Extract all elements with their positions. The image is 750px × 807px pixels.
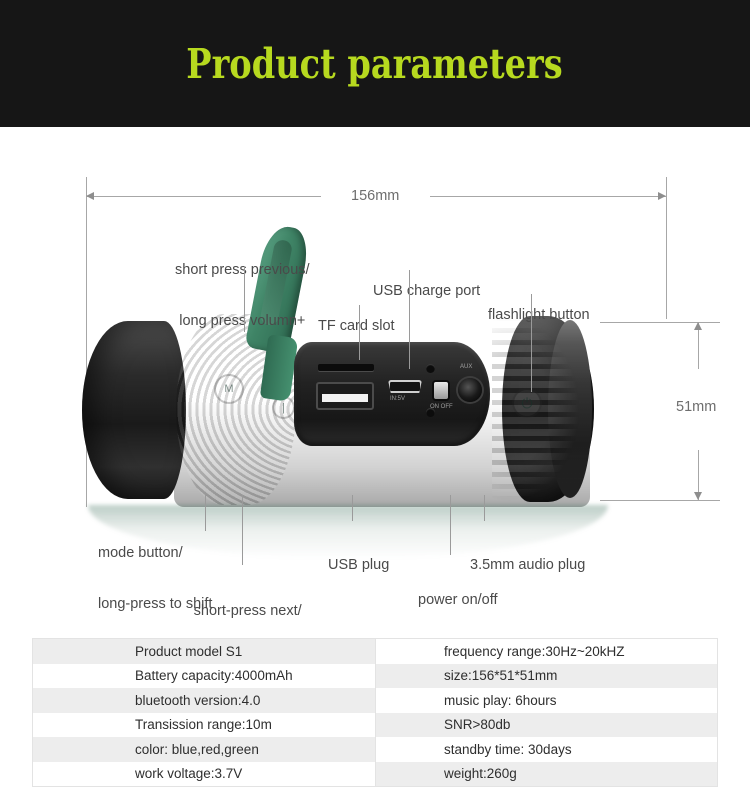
arrow-up-icon: [694, 322, 702, 330]
audio-jack-3-5mm[interactable]: [458, 378, 482, 402]
callout-power-switch-line1: power on/off: [418, 592, 498, 609]
callout-flashlight-button: flashlight button: [488, 273, 590, 358]
callout-usb-charge-port: USB charge port: [373, 249, 480, 334]
leader-volume-up: [244, 266, 245, 332]
table-row: bluetooth version:4.0: [33, 688, 375, 713]
screw-top: [426, 364, 435, 373]
mode-button[interactable]: M: [214, 374, 244, 404]
table-row: color: blue,red,green: [33, 737, 375, 762]
dimension-line-length-2: [430, 196, 666, 197]
leader-usb-charge-port: [409, 270, 410, 369]
callout-volume-up: short press previous/ long press volumn+: [175, 228, 310, 364]
audio-jack-label: AUX: [460, 364, 472, 370]
leader-tf-card-slot: [359, 305, 360, 360]
callout-flashlight-button-line1: flashlight button: [488, 307, 590, 324]
callout-volume-up-line1: short press previous/: [175, 262, 310, 279]
table-row: Battery capacity:4000mAh: [33, 664, 375, 689]
leader-audio-plug: [484, 495, 485, 521]
leader-usb-plug: [352, 495, 353, 521]
spec-column-right: frequency range:30Hz~20kHZ size:156*51*5…: [375, 639, 717, 786]
table-row: SNR>80db: [376, 713, 717, 738]
power-switch[interactable]: [434, 382, 448, 399]
callout-usb-plug-line1: USB plug: [328, 557, 389, 574]
usb-a-port[interactable]: [316, 382, 374, 410]
dimension-label-length: 156mm: [351, 188, 399, 204]
arrow-right-icon: [658, 192, 666, 200]
leader-flashlight-button: [531, 294, 532, 392]
callout-usb-plug: USB plug: [328, 523, 389, 608]
page-header-banner: Product parameters: [0, 0, 750, 127]
leader-power-switch: [450, 495, 451, 555]
arrow-down-icon: [694, 492, 702, 500]
extension-line-right: [666, 177, 667, 319]
micro-usb-charge-port[interactable]: [388, 380, 422, 393]
spec-column-left: Product model S1 Battery capacity:4000mA…: [33, 639, 375, 786]
extension-line-bottom: [600, 500, 720, 501]
left-end-cap: [82, 321, 186, 499]
dimension-line-length: [86, 196, 321, 197]
product-spec-table: Product model S1 Battery capacity:4000mA…: [32, 638, 718, 787]
callout-mode-button-line1: mode button/: [98, 545, 212, 562]
callout-usb-charge-port-line1: USB charge port: [373, 283, 480, 300]
page-title: Product parameters: [187, 40, 563, 88]
extension-line-left: [86, 177, 87, 507]
table-row: size:156*51*51mm: [376, 664, 717, 689]
product-diagram: 156mm 51mm M + | ⏻ IN:5V: [0, 127, 750, 632]
table-row: Product model S1: [33, 639, 375, 664]
arrow-left-icon: [86, 192, 94, 200]
table-row: frequency range:30Hz~20kHZ: [376, 639, 717, 664]
micro-usb-label: IN:5V: [390, 396, 405, 402]
callout-volume-down-line1: short-press next/: [186, 603, 309, 620]
table-row: music play: 6hours: [376, 688, 717, 713]
dimension-label-diameter: 51mm: [676, 399, 716, 415]
leader-volume-down: [242, 495, 243, 565]
flashlight-button[interactable]: ⏻: [512, 388, 542, 418]
callout-power-switch: power on/off: [418, 558, 498, 643]
leader-mode-button: [205, 495, 206, 531]
table-row: standby time: 30days: [376, 737, 717, 762]
table-row: work voltage:3.7V: [33, 762, 375, 787]
extension-line-top: [600, 322, 720, 323]
table-row: Transission range:10m: [33, 713, 375, 738]
callout-volume-up-line2: long press volumn+: [175, 313, 310, 330]
table-row: weight:260g: [376, 762, 717, 787]
power-switch-label: ON OFF: [430, 404, 453, 410]
